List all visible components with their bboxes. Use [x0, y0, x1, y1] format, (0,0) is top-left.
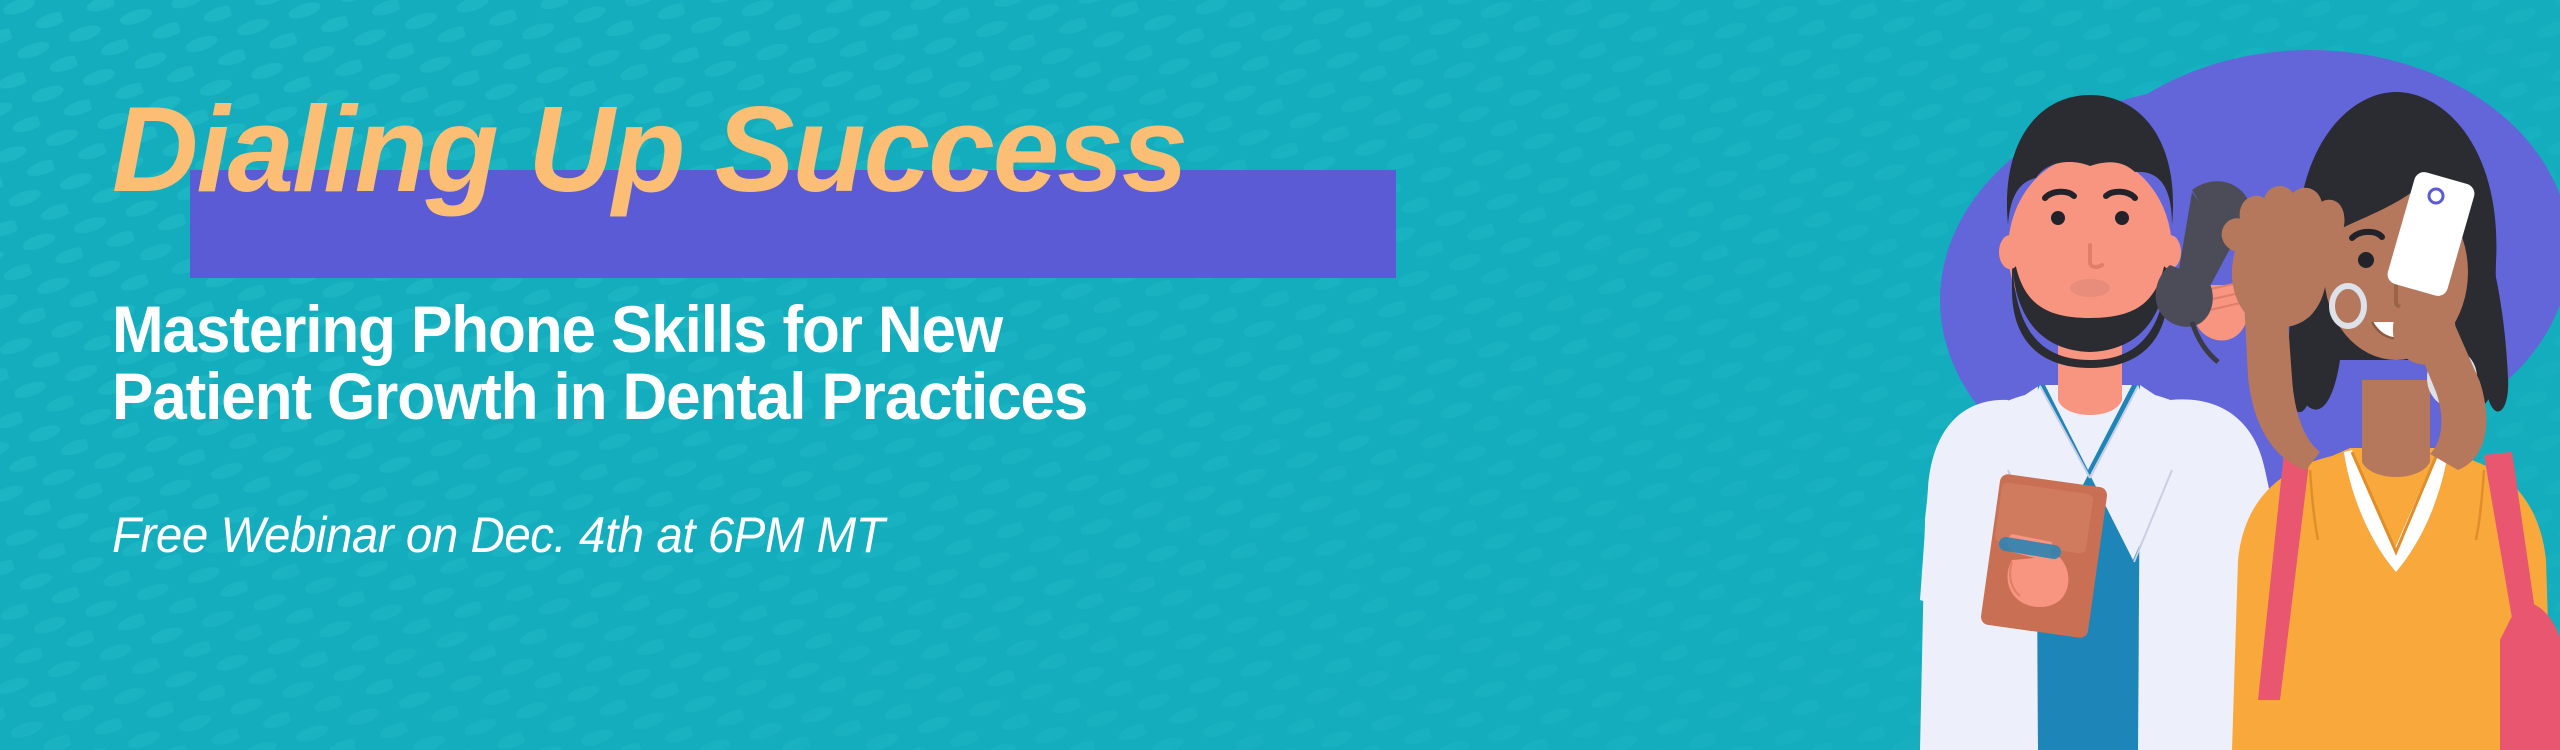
- subheadline-line-1: Mastering Phone Skills for New: [112, 296, 1087, 363]
- banner-subheadline: Mastering Phone Skills for New Patient G…: [112, 296, 1087, 431]
- subheadline-line-2: Patient Growth in Dental Practices: [112, 363, 1087, 430]
- webinar-promo-banner: Dialing Up Success Mastering Phone Skill…: [0, 0, 2560, 750]
- banner-headline: Dialing Up Success: [112, 88, 1186, 210]
- dentist-and-patient-illustration: [1840, 0, 2560, 750]
- banner-text-block: Dialing Up Success Mastering Phone Skill…: [0, 0, 1500, 750]
- male-dentist-figure: [1920, 95, 2280, 750]
- webinar-dateline: Free Webinar on Dec. 4th at 6PM MT: [112, 508, 884, 563]
